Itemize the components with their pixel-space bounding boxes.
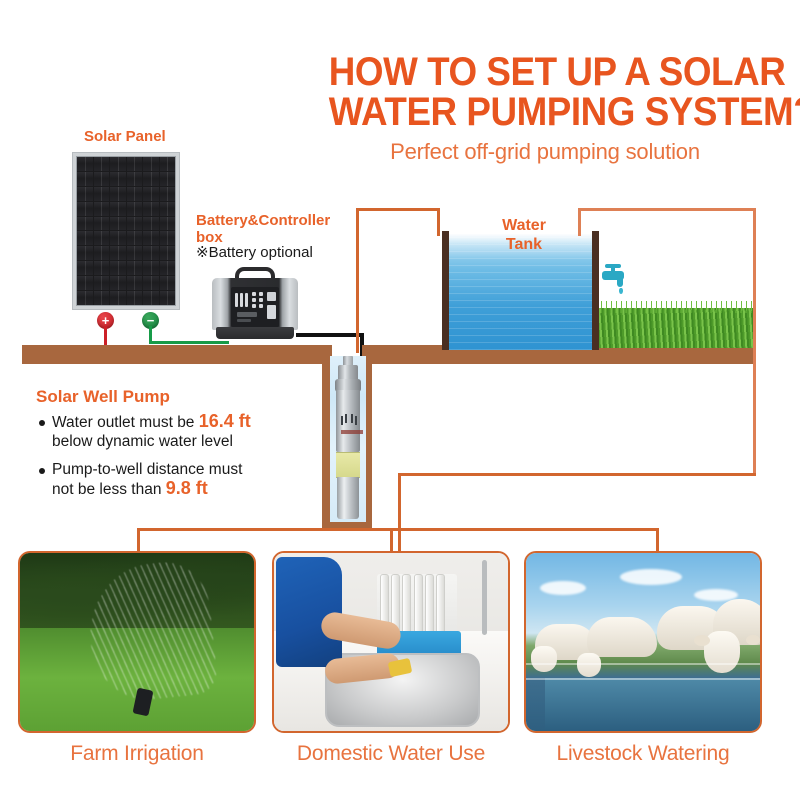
spec-1-value: 16.4 ft bbox=[199, 411, 251, 431]
solar-cell bbox=[94, 172, 110, 186]
solar-cell bbox=[110, 231, 126, 245]
connector-pump-riser bbox=[356, 208, 359, 353]
pump-intake-housing bbox=[337, 477, 359, 519]
card-caption-domestic-water-use: Domestic Water Use bbox=[272, 742, 510, 766]
spec-1-line1-pre: Water outlet must be bbox=[52, 414, 199, 431]
solar-cell bbox=[77, 172, 93, 186]
solar-cell bbox=[110, 157, 126, 171]
solar-cell bbox=[127, 261, 143, 275]
solar-cell bbox=[127, 172, 143, 186]
connector-into-tank-left bbox=[437, 208, 440, 236]
solar-cell bbox=[94, 157, 110, 171]
solar-cell bbox=[77, 261, 93, 275]
solar-cell bbox=[94, 202, 110, 216]
solar-cell bbox=[77, 157, 93, 171]
tank-wall-left bbox=[442, 231, 449, 350]
solar-cell bbox=[77, 187, 93, 201]
solar-cell bbox=[110, 217, 126, 231]
solar-cell bbox=[160, 157, 176, 171]
use-case-card-domestic-water-use[interactable] bbox=[272, 551, 510, 733]
connector-pump-to-tank-top bbox=[356, 208, 440, 211]
solar-cell bbox=[110, 172, 126, 186]
station-body bbox=[212, 278, 298, 330]
solar-cell bbox=[110, 202, 126, 216]
solar-cell bbox=[160, 291, 176, 305]
solar-cell bbox=[77, 202, 93, 216]
water-tank-label: Water Tank bbox=[489, 216, 559, 254]
solar-cell bbox=[110, 276, 126, 290]
cows-drinking-at-trough-photo bbox=[526, 553, 760, 731]
spec-2-value: 9.8 ft bbox=[166, 478, 208, 498]
use-case-card-livestock-watering[interactable] bbox=[524, 551, 762, 733]
spec-item-1: Water outlet must be 16.4 ft below dynam… bbox=[36, 412, 311, 451]
station-front-panel bbox=[231, 287, 279, 327]
solar-cell bbox=[77, 217, 93, 231]
solar-cell bbox=[127, 291, 143, 305]
spec-item-2: Pump-to-well distance must not be less t… bbox=[36, 460, 311, 499]
ground-layer-left bbox=[22, 345, 332, 364]
solar-cell bbox=[110, 261, 126, 275]
solar-cell bbox=[143, 157, 159, 171]
pump-spec-list: Water outlet must be 16.4 ft below dynam… bbox=[36, 412, 311, 508]
solar-cell bbox=[160, 231, 176, 245]
solar-cell bbox=[110, 187, 126, 201]
solar-cell bbox=[94, 246, 110, 260]
solar-cell bbox=[160, 172, 176, 186]
battery-controller-label: Battery&Controller box bbox=[196, 212, 346, 246]
connector-right-descender bbox=[753, 208, 756, 476]
pump-spec-label bbox=[336, 452, 360, 478]
solar-cell bbox=[143, 246, 159, 260]
solar-cell bbox=[77, 291, 93, 305]
solar-cell bbox=[143, 187, 159, 201]
connector-tank-right-top bbox=[578, 208, 756, 211]
connector-branch-trunk bbox=[398, 473, 401, 551]
grass-strip bbox=[599, 308, 756, 348]
connector-lower-horizontal bbox=[398, 473, 756, 476]
solar-cell bbox=[127, 157, 143, 171]
solar-cell bbox=[110, 246, 126, 260]
connector-tank-right-riser bbox=[578, 208, 581, 236]
solar-cell bbox=[160, 217, 176, 231]
solar-cell bbox=[77, 246, 93, 260]
solar-cell bbox=[94, 276, 110, 290]
pump-brand-stripe bbox=[341, 430, 363, 434]
connector-card-1-drop bbox=[137, 528, 140, 552]
solar-cell bbox=[94, 291, 110, 305]
solar-well-pump-label: Solar Well Pump bbox=[36, 388, 170, 405]
solar-cell bbox=[77, 231, 93, 245]
solar-cell bbox=[143, 217, 159, 231]
solar-cell bbox=[127, 276, 143, 290]
solar-cell bbox=[127, 231, 143, 245]
solar-cell bbox=[143, 202, 159, 216]
solar-cell bbox=[110, 291, 126, 305]
spec-2-line2-pre: not be less than bbox=[52, 481, 166, 498]
use-case-card-farm-irrigation[interactable] bbox=[18, 551, 256, 733]
solar-cell bbox=[127, 246, 143, 260]
solar-cell bbox=[94, 217, 110, 231]
solar-cell bbox=[127, 187, 143, 201]
solar-cell bbox=[127, 202, 143, 216]
solar-cell bbox=[94, 231, 110, 245]
water-drop-icon bbox=[619, 288, 623, 294]
title-line-2: WATER PUMPING SYSTEM? bbox=[329, 92, 761, 132]
sprinkler-on-lawn-photo bbox=[20, 553, 254, 731]
bullet-icon bbox=[39, 420, 45, 426]
solar-cell bbox=[160, 187, 176, 201]
solar-cell bbox=[143, 231, 159, 245]
subtitle: Perfect off-grid pumping solution bbox=[310, 139, 780, 165]
pump-body bbox=[336, 390, 360, 452]
spec-1-line2: below dynamic water level bbox=[52, 433, 233, 450]
solar-cell bbox=[160, 246, 176, 260]
connector-card-2-drop bbox=[390, 528, 393, 552]
submersible-pump-illustration bbox=[332, 356, 364, 521]
solar-cell bbox=[143, 172, 159, 186]
title-block: HOW TO SET UP A SOLAR WATER PUMPING SYST… bbox=[310, 52, 780, 165]
battery-optional-note: ※Battery optional bbox=[196, 244, 313, 262]
card-caption-farm-irrigation: Farm Irrigation bbox=[18, 742, 256, 766]
solar-panel-label: Solar Panel bbox=[84, 128, 166, 145]
station-base bbox=[216, 327, 294, 339]
card-caption-livestock-watering: Livestock Watering bbox=[524, 742, 762, 766]
infographic-canvas: HOW TO SET UP A SOLAR WATER PUMPING SYST… bbox=[0, 0, 800, 800]
washing-dishes-in-sink-photo bbox=[274, 553, 508, 731]
solar-cell bbox=[160, 261, 176, 275]
solar-cell bbox=[94, 187, 110, 201]
spec-2-line1: Pump-to-well distance must bbox=[52, 461, 242, 478]
solar-cell bbox=[143, 276, 159, 290]
solar-cell bbox=[160, 276, 176, 290]
solar-cell bbox=[143, 291, 159, 305]
connector-card-bus bbox=[137, 528, 659, 531]
connector-card-3-drop bbox=[656, 528, 659, 552]
pump-power-cable-horizontal bbox=[296, 333, 364, 337]
solar-panel-illustration bbox=[72, 152, 180, 310]
solar-cell bbox=[77, 276, 93, 290]
power-station-illustration bbox=[212, 274, 298, 342]
solar-panel-cell-grid bbox=[76, 156, 176, 306]
solar-cell bbox=[143, 261, 159, 275]
title-line-1: HOW TO SET UP A SOLAR bbox=[329, 52, 761, 92]
solar-cell bbox=[127, 217, 143, 231]
solar-cell bbox=[160, 202, 176, 216]
solar-cell bbox=[94, 261, 110, 275]
faucet-icon bbox=[602, 264, 630, 290]
tank-wall-right bbox=[592, 231, 599, 350]
bullet-icon bbox=[39, 468, 45, 474]
